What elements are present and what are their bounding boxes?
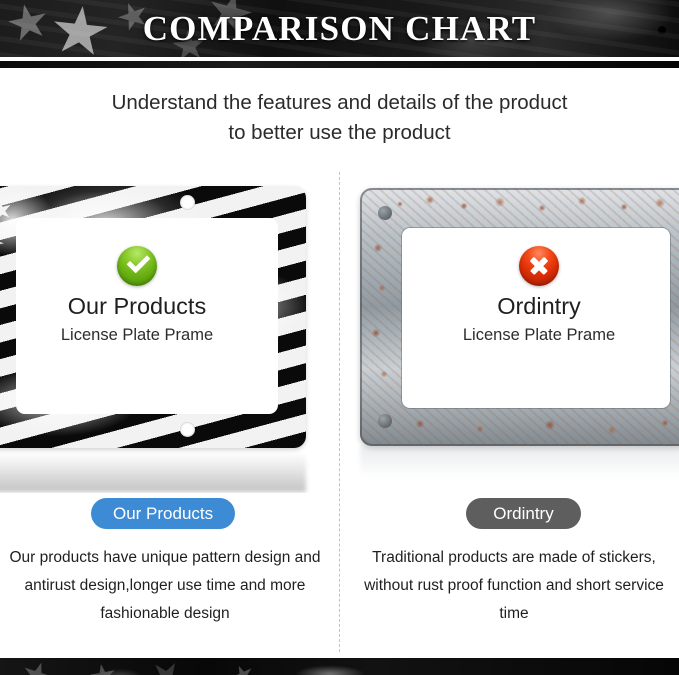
mounting-hole-icon	[180, 195, 195, 210]
mounting-hole-icon	[180, 422, 195, 437]
page-subtitle: Understand the features and details of t…	[0, 88, 679, 148]
description-ordintry: Traditional products are made of sticker…	[354, 544, 674, 628]
footer-star-icon	[88, 662, 118, 675]
red-x-circle-icon	[519, 246, 559, 286]
ordintry-title: Ordintry	[429, 292, 649, 321]
our-products-callout: Our Products License Plate Prame	[27, 246, 247, 347]
footer-star-icon	[18, 658, 55, 675]
screw-icon	[378, 206, 392, 220]
product-reflection	[0, 446, 306, 492]
header-banner: COMPARISON CHART	[0, 0, 679, 57]
footer-banner	[0, 658, 679, 675]
product-reflection	[360, 446, 679, 486]
our-products-subtitle: License Plate Prame	[27, 323, 247, 347]
subtitle-line-2: to better use the product	[0, 118, 679, 148]
pill-badge-ordintry: Ordintry	[466, 498, 581, 529]
footer-star-icon	[229, 661, 258, 675]
pill-badge-our-products: Our Products	[91, 498, 235, 529]
comparison-chart-page: COMPARISON CHART Understand the features…	[0, 0, 679, 675]
header-underline-bar	[0, 61, 679, 68]
page-title: COMPARISON CHART	[0, 0, 679, 57]
subtitle-line-1: Understand the features and details of t…	[0, 88, 679, 118]
screw-icon	[378, 414, 392, 428]
ordintry-subtitle: License Plate Prame	[429, 323, 649, 347]
column-divider	[339, 172, 340, 652]
our-products-title: Our Products	[27, 292, 247, 321]
flag-star-icon	[0, 198, 14, 224]
description-our-products: Our products have unique pattern design …	[5, 544, 325, 628]
ordintry-callout: Ordintry License Plate Prame	[429, 246, 649, 347]
green-check-circle-icon	[117, 246, 157, 286]
flag-star-icon	[0, 231, 7, 254]
footer-star-icon	[144, 658, 189, 675]
